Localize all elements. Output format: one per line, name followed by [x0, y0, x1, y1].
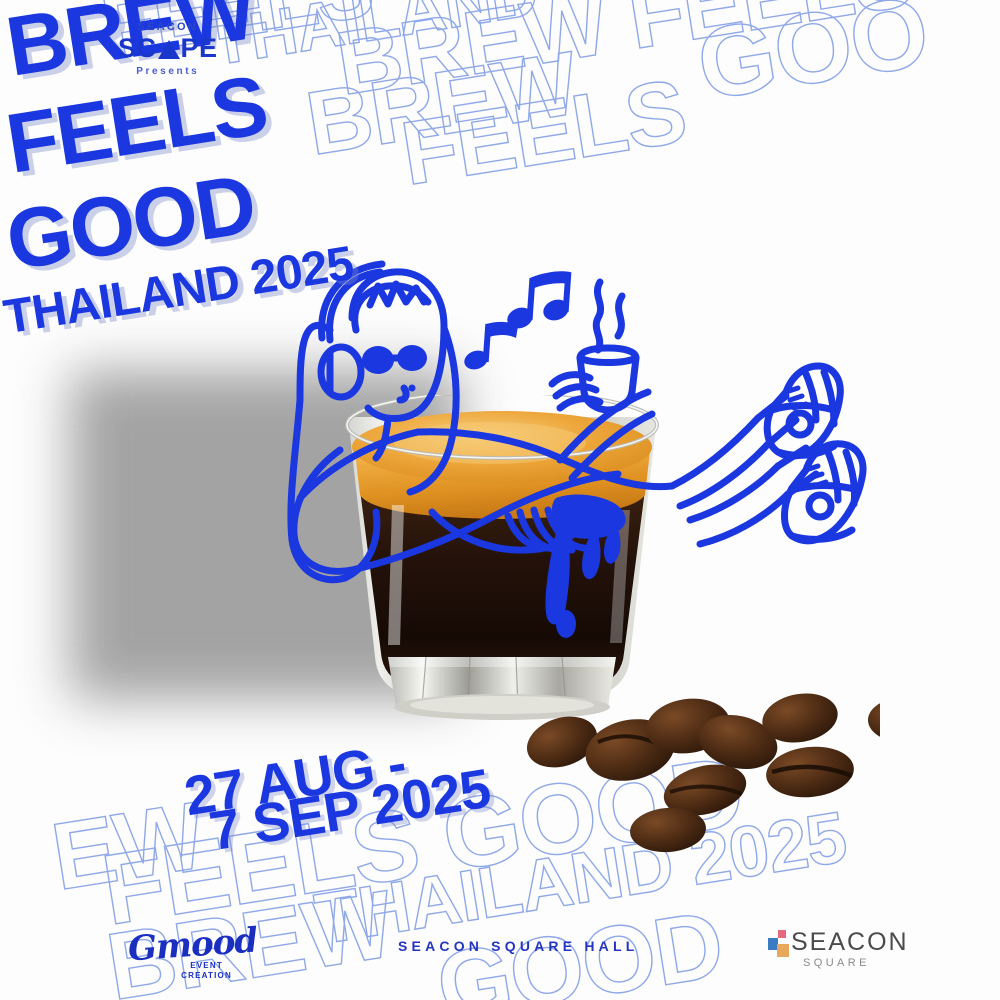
background-word: GOO: [690, 0, 936, 124]
espresso-glass: [330, 395, 675, 725]
mark-square-orange: [777, 944, 789, 957]
coffee-beans: [520, 690, 880, 870]
mark-square-pink: [778, 930, 786, 938]
seacon-square-logo: SEACON SQUARE: [768, 930, 909, 969]
presenter-word-part1: SC: [118, 35, 157, 62]
sponsor-name: SEACON: [791, 930, 909, 955]
triangle-a-icon: [158, 40, 180, 59]
seacon-scape-logo: SEACON SC PE Presents: [118, 22, 218, 77]
presenter-top-label: SEACON: [118, 22, 218, 33]
presenter-word-part2: PE: [181, 35, 218, 62]
presenter-wordmark: SC PE: [118, 35, 218, 62]
seacon-square-wordmark: SEACON SQUARE: [791, 930, 909, 969]
gmood-tagline-line2: CREATION: [156, 971, 257, 981]
venue-name: SEACON SQUARE HALL: [398, 938, 639, 954]
seacon-square-mark-icon: [768, 930, 790, 960]
gmood-organizer-logo: Gmood EVENT CREATION: [128, 925, 257, 981]
presents-label: Presents: [118, 67, 218, 77]
sponsor-sub: SQUARE: [803, 958, 909, 969]
poster-canvas: FEELSTHAILANDBREW FEELSGOOBREWFEELSEWFEE…: [0, 0, 1000, 1000]
